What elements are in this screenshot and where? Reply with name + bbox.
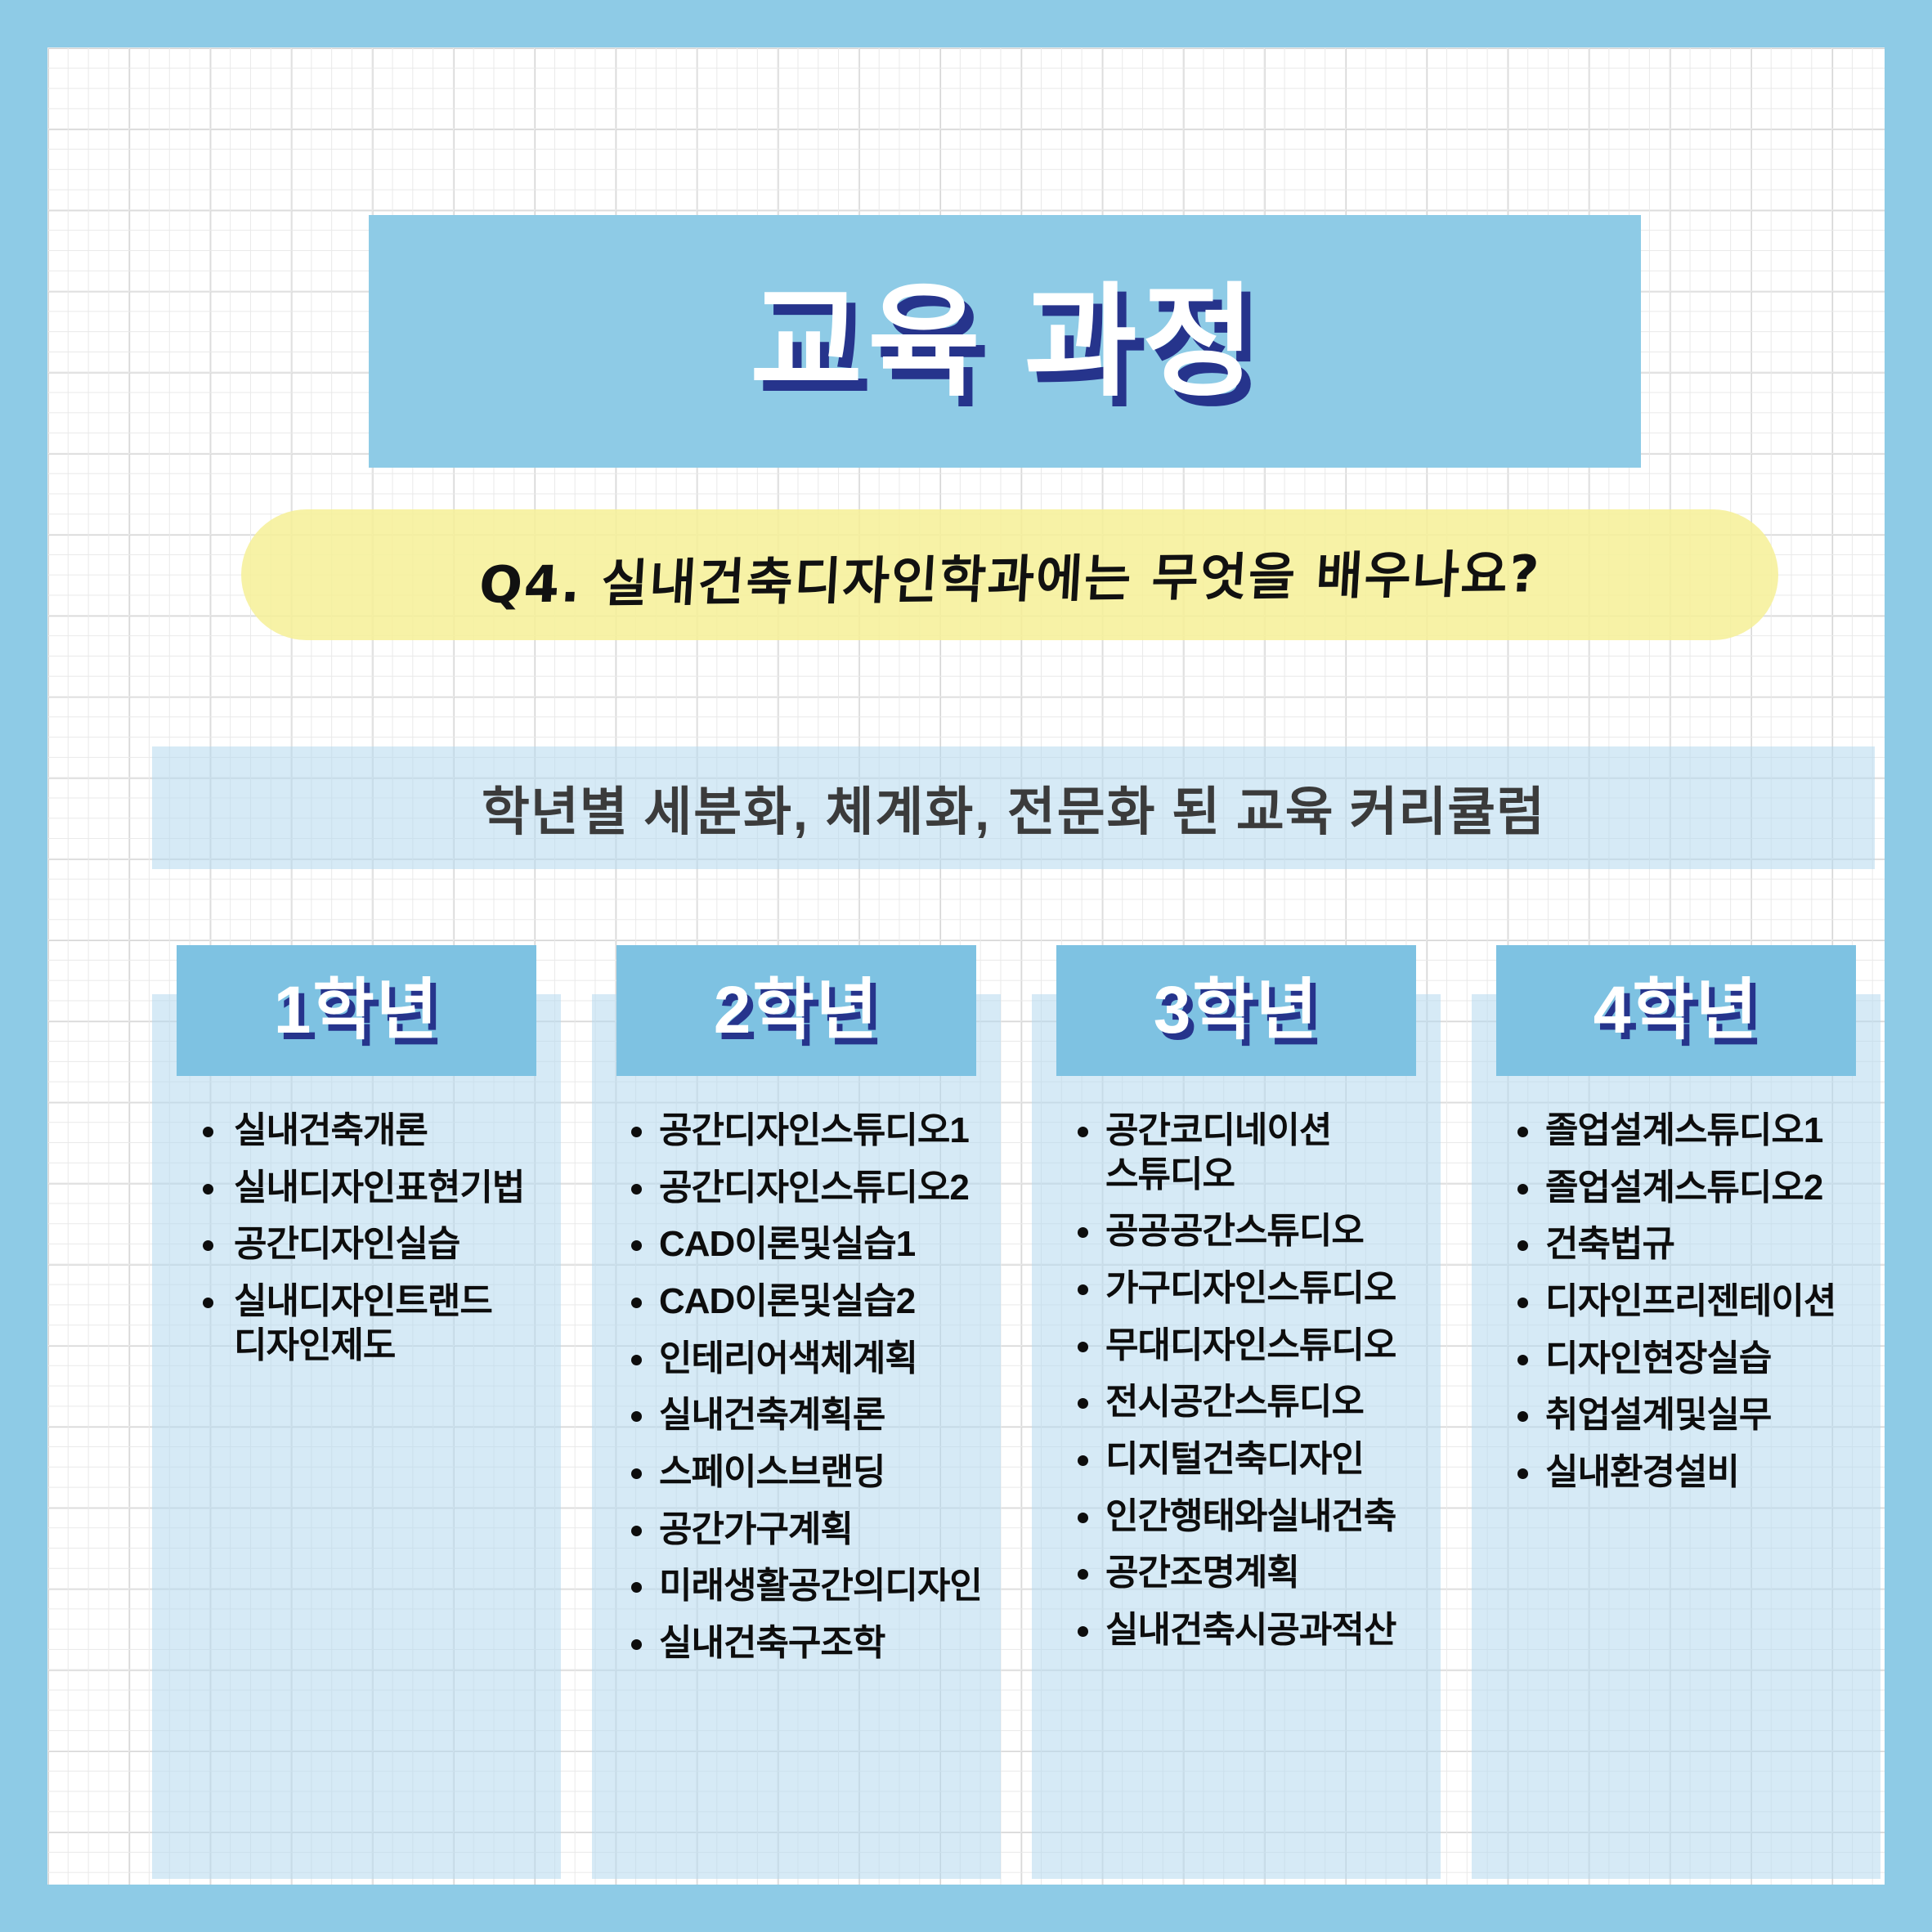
course-item: 공간가구계획: [625, 1508, 986, 1552]
course-item: 실내건축시공과적산: [1071, 1608, 1426, 1652]
course-list-4: 졸업설계스튜디오1 졸업설계스튜디오2 건축법규 디자인프리젠테이션 디자인현장…: [1511, 1109, 1866, 1508]
subtitle-text: 학년별 세분화, 체계화, 전문화 된 교육 커리큘럼: [482, 770, 1545, 845]
title-banner: 교육 과정: [369, 215, 1641, 468]
year-header-badge-2: 2학년: [616, 945, 976, 1076]
course-item: 전시공간스튜디오: [1071, 1380, 1426, 1424]
course-item: 디자인프리젠테이션: [1511, 1280, 1866, 1324]
course-item: 취업설계및실무: [1511, 1393, 1866, 1437]
course-item: 공간코디네이션 스튜디오: [1071, 1109, 1426, 1196]
subtitle-lead: 학년별: [482, 782, 643, 841]
year-header-label-1: 1학년: [274, 977, 440, 1044]
subtitle-highlight: 세분화, 체계화, 전문화: [643, 782, 1156, 841]
course-item: CAD이론및실습2: [625, 1280, 986, 1324]
course-list-2: 공간디자인스튜디오1 공간디자인스튜디오2 CAD이론및실습1 CAD이론및실습…: [625, 1109, 986, 1679]
course-item: 공간디자인스튜디오1: [625, 1109, 986, 1153]
year-column-1: 1학년 실내건축개론 실내디자인표현기법 공간디자인실습 실내디자인트랜드 디자…: [152, 994, 561, 1879]
course-item: 인테리어색체계획: [625, 1337, 986, 1381]
year-column-2: 2학년 공간디자인스튜디오1 공간디자인스튜디오2 CAD이론및실습1 CAD이…: [592, 994, 1001, 1879]
question-pill: Q4. 실내건축디자인학과에는 무엇을 배우나요?: [241, 509, 1778, 640]
year-column-3: 3학년 공간코디네이션 스튜디오 공공공간스튜디오 가구디자인스튜디오 무대디자…: [1032, 994, 1441, 1879]
question-text: Q4. 실내건축디자인학과에는 무엇을 배우나요?: [477, 532, 1542, 617]
course-item: 실내디자인트랜드 디자인제도: [195, 1280, 546, 1367]
course-item: 무대디자인스튜디오: [1071, 1324, 1426, 1368]
subtitle-tail: 된 교육 커리큘럼: [1156, 782, 1545, 841]
course-item: 디자인현장실습: [1511, 1337, 1866, 1381]
course-item: 미래생활공간의디자인: [625, 1564, 986, 1608]
year-column-4: 4학년 졸업설계스튜디오1 졸업설계스튜디오2 건축법규 디자인프리젠테이션 디…: [1472, 994, 1880, 1879]
page-title: 교육 과정: [750, 280, 1260, 403]
year-header-badge-3: 3학년: [1056, 945, 1416, 1076]
year-header-badge-4: 4학년: [1496, 945, 1856, 1076]
course-item: 스페이스브랜딩: [625, 1450, 986, 1495]
course-item: 실내건축개론: [195, 1109, 546, 1153]
course-item: 공간조명계획: [1071, 1551, 1426, 1595]
course-item: 실내환경설비: [1511, 1450, 1866, 1495]
course-list-1: 실내건축개론 실내디자인표현기법 공간디자인실습 실내디자인트랜드 디자인제도: [195, 1109, 546, 1380]
year-header-label-2: 2학년: [714, 977, 880, 1044]
poster-root: 교육 과정 Q4. 실내건축디자인학과에는 무엇을 배우나요? 학년별 세분화,…: [0, 0, 1932, 1932]
course-item: 공공공간스튜디오: [1071, 1209, 1426, 1253]
course-item: 졸업설계스튜디오1: [1511, 1109, 1866, 1153]
course-item: 공간디자인실습: [195, 1222, 546, 1266]
grid-paper-background: 교육 과정 Q4. 실내건축디자인학과에는 무엇을 배우나요? 학년별 세분화,…: [47, 47, 1885, 1885]
year-header-label-4: 4학년: [1594, 977, 1759, 1044]
course-item: 인간행태와실내건축: [1071, 1495, 1426, 1539]
course-item: 실내디자인표현기법: [195, 1166, 546, 1210]
year-header-badge-1: 1학년: [177, 945, 536, 1076]
year-header-label-3: 3학년: [1154, 977, 1320, 1044]
course-item: 건축법규: [1511, 1222, 1866, 1266]
course-item: 공간디자인스튜디오2: [625, 1166, 986, 1210]
course-item: 실내건축계획론: [625, 1393, 986, 1437]
course-item: 디지털건축디자인: [1071, 1437, 1426, 1481]
course-item: 졸업설계스튜디오2: [1511, 1166, 1866, 1210]
course-list-3: 공간코디네이션 스튜디오 공공공간스튜디오 가구디자인스튜디오 무대디자인스튜디…: [1071, 1109, 1426, 1665]
course-item: 가구디자인스튜디오: [1071, 1266, 1426, 1311]
course-item: CAD이론및실습1: [625, 1222, 986, 1266]
course-item: 실내건축구조학: [625, 1621, 986, 1665]
subtitle-banner: 학년별 세분화, 체계화, 전문화 된 교육 커리큘럼: [152, 746, 1875, 869]
